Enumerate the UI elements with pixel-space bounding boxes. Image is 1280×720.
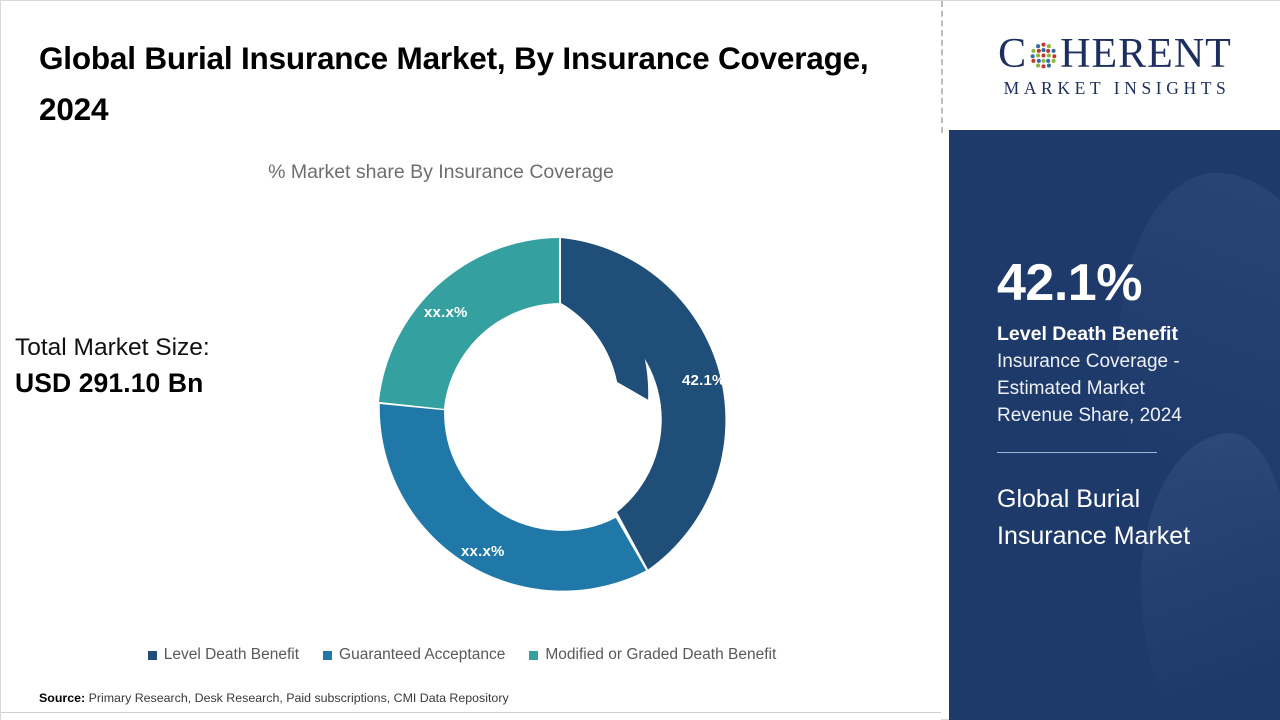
stat-panel-content: 42.1% Level Death Benefit Insurance Cove… xyxy=(997,257,1227,555)
donut-slice-guaranteed-acceptance xyxy=(380,404,646,591)
panel-market-name: Global Burial Insurance Market xyxy=(997,481,1227,555)
vertical-dashed-divider xyxy=(941,1,943,133)
stat-panel: 42.1% Level Death Benefit Insurance Cove… xyxy=(949,133,1280,720)
infographic-page: Global Burial Insurance Market, By Insur… xyxy=(0,0,1280,720)
source-text: Primary Research, Desk Research, Paid su… xyxy=(89,691,509,705)
slice-label-modified-graded: xx.x% xyxy=(424,304,468,321)
right-panel: C xyxy=(949,1,1280,720)
market-size-label: Total Market Size: xyxy=(15,331,305,365)
chart-subtitle: % Market share By Insurance Coverage xyxy=(1,161,941,184)
donut-chart: 42.1% xx.x% xx.x% xyxy=(373,233,749,609)
stat-description-line-1: Insurance Coverage - xyxy=(997,349,1227,376)
panel-divider xyxy=(997,452,1157,453)
source-label: Source: xyxy=(39,691,85,705)
legend-item-modified-graded-death-benefit[interactable]: Modified or Graded Death Benefit xyxy=(529,646,776,664)
globe-icon xyxy=(1028,40,1059,71)
logo-subtitle: MARKET INSIGHTS xyxy=(1000,78,1231,99)
legend-item-level-death-benefit[interactable]: Level Death Benefit xyxy=(148,646,299,664)
source-note: Source: Primary Research, Desk Research,… xyxy=(39,691,509,705)
stat-segment-name: Level Death Benefit xyxy=(997,321,1227,349)
legend-label: Level Death Benefit xyxy=(164,646,299,664)
chart-legend: Level Death Benefit Guaranteed Acceptanc… xyxy=(1,646,941,664)
slice-label-guaranteed-acceptance: xx.x% xyxy=(461,543,505,560)
page-title: Global Burial Insurance Market, By Insur… xyxy=(39,33,869,135)
stat-value: 42.1% xyxy=(997,257,1227,309)
legend-item-guaranteed-acceptance[interactable]: Guaranteed Acceptance xyxy=(323,646,505,664)
left-content-area: Global Burial Insurance Market, By Insur… xyxy=(1,1,941,720)
legend-label: Modified or Graded Death Benefit xyxy=(545,646,776,664)
donut-slice-modified-graded-death-benefit xyxy=(379,238,559,409)
market-size-value: USD 291.10 Bn xyxy=(15,365,305,402)
legend-swatch-icon xyxy=(529,651,538,660)
slice-label-level-death-benefit: 42.1% xyxy=(682,372,726,389)
total-market-size-block: Total Market Size: USD 291.10 Bn xyxy=(15,331,305,401)
stat-description-line-2: Estimated Market xyxy=(997,376,1227,403)
donut-slice-level-death-benefit-body xyxy=(561,238,725,570)
legend-swatch-icon xyxy=(148,651,157,660)
bottom-divider xyxy=(1,712,941,713)
stat-description-line-3: Revenue Share, 2024 xyxy=(997,403,1227,430)
legend-swatch-icon xyxy=(323,651,332,660)
logo-wordmark: C xyxy=(998,33,1232,75)
logo-letter-c: C xyxy=(998,33,1027,75)
brand-logo: C xyxy=(949,1,1280,133)
legend-label: Guaranteed Acceptance xyxy=(339,646,505,664)
donut-chart-svg xyxy=(373,233,749,609)
logo-word-rest: HERENT xyxy=(1060,33,1232,75)
